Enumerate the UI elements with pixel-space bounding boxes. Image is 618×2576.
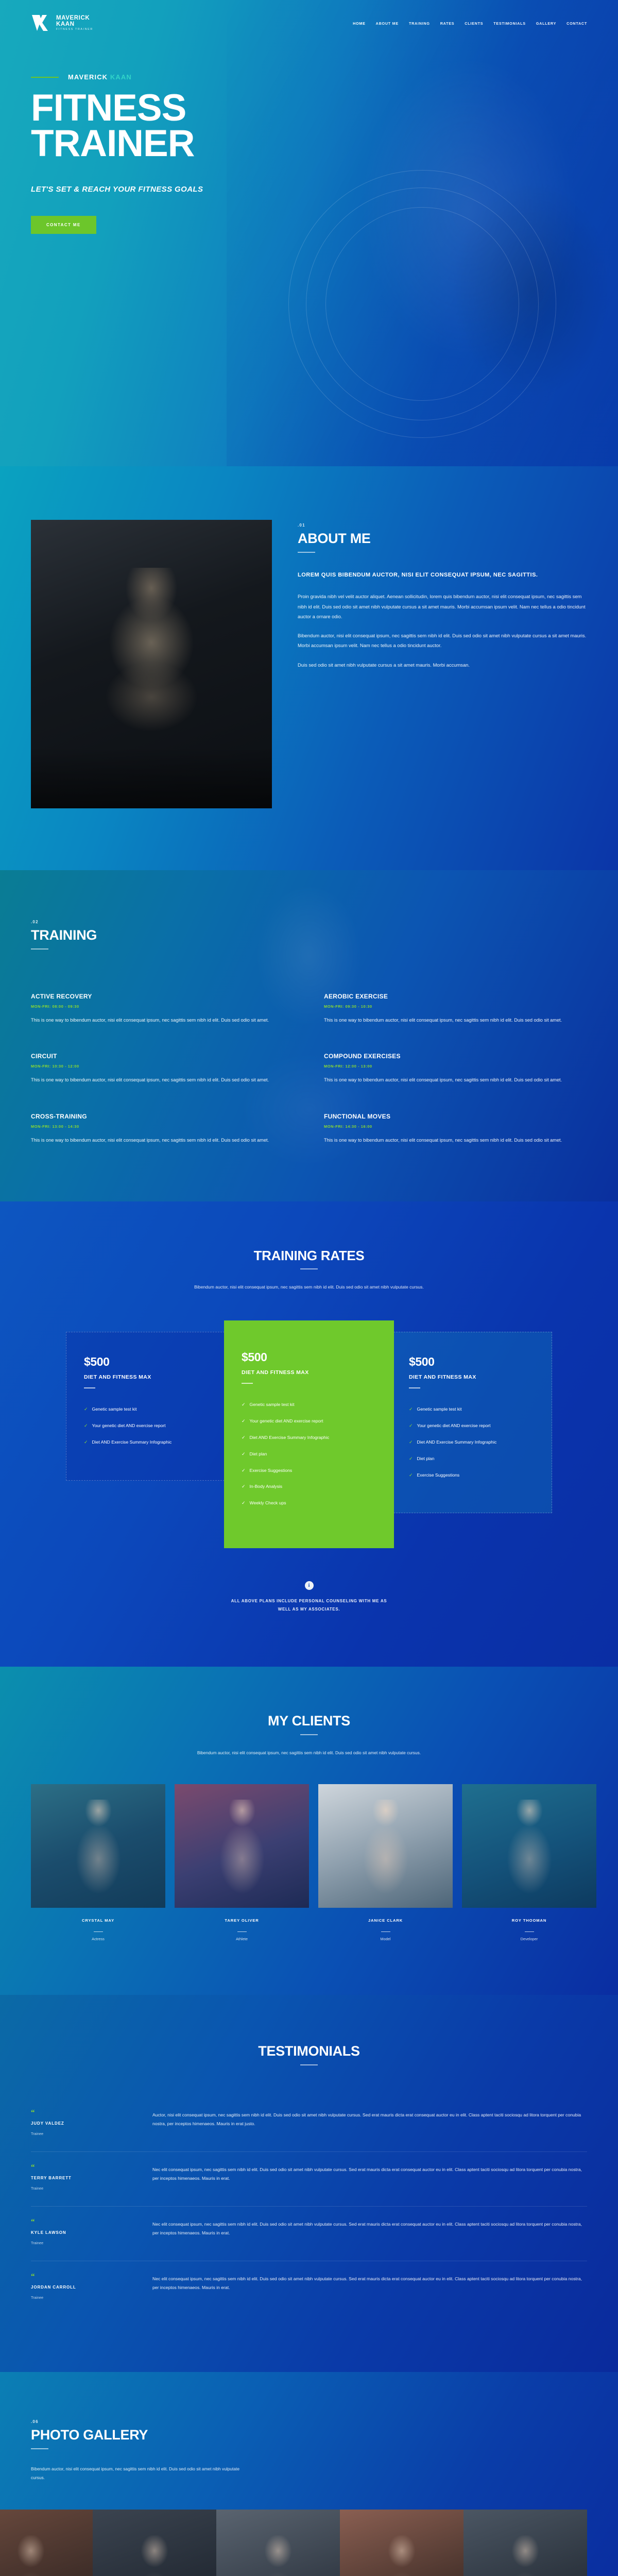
plan-feature: ✓Weekly Check ups [242, 1500, 376, 1506]
hero-eyebrow-first: MAVERICK [68, 73, 110, 81]
plan-feature-label: Your genetic diet AND exercise report [250, 1418, 323, 1425]
client-role: Actress [31, 1937, 165, 1941]
testimonials-title-rule [300, 2064, 318, 2065]
plan-name: DIET AND FITNESS MAX [84, 1374, 209, 1380]
about-copy: .01 ABOUT ME LOREM QUIS BIBENDUM AUCTOR,… [298, 520, 587, 679]
client-photo [318, 1784, 453, 1908]
hero-title-line1: FITNESS [31, 90, 587, 126]
quote-icon: “ [31, 2164, 139, 2171]
plan-feature-list: ✓Genetic sample test kit ✓Your genetic d… [84, 1406, 209, 1446]
pricing-plan-premium[interactable]: $500 DIET AND FITNESS MAX ✓Genetic sampl… [391, 1332, 552, 1513]
plan-feature: ✓Your genetic diet AND exercise report [409, 1422, 534, 1429]
plan-feature-label: Diet AND Exercise Summary Infographic [250, 1434, 330, 1441]
clients-section: MY CLIENTS Bibendum auctor, nisi elit co… [0, 1667, 618, 1995]
clients-title-rule [300, 1734, 318, 1735]
nav-item-contact[interactable]: CONTACT [566, 21, 587, 26]
clients-grid: CRYSTAL MAY Actress TAREY OLIVER Athlete… [31, 1784, 587, 1942]
training-item: FUNCTIONAL MOVES MON-FRI: 14:30 - 16:00 … [324, 1113, 587, 1145]
top-navigation-bar: MAVERICK KAAN FITNESS TRAINER HOME ABOUT… [31, 0, 587, 33]
gallery-subtitle: Bibendum auctor, nisi elit consequat ips… [31, 2465, 247, 2482]
about-paragraph-3: Duis sed odio sit amet nibh vulputate cu… [298, 660, 587, 670]
rates-header: TRAINING RATES Bibendum auctor, nisi eli… [31, 1249, 587, 1292]
gallery-section: .06 PHOTO GALLERY Bibendum auctor, nisi … [0, 2372, 618, 2576]
info-icon: i [305, 1581, 314, 1590]
training-title: TRAINING [31, 928, 587, 942]
client-role: Athlete [175, 1937, 309, 1941]
plan-price: $500 [84, 1355, 209, 1369]
rates-title-rule [300, 1268, 318, 1269]
plan-feature: ✓Diet AND Exercise Summary Infographic [242, 1434, 376, 1441]
plan-feature-label: Diet plan [250, 1451, 267, 1458]
plan-feature: ✓Diet AND Exercise Summary Infographic [84, 1439, 209, 1446]
about-photo-shade [31, 747, 272, 808]
training-item-name: CIRCUIT [31, 1053, 294, 1060]
plan-feature-label: Diet AND Exercise Summary Infographic [92, 1439, 172, 1446]
plan-feature-list: ✓Genetic sample test kit ✓Your genetic d… [409, 1406, 534, 1478]
rates-title: TRAINING RATES [31, 1249, 587, 1262]
check-icon: ✓ [242, 1401, 246, 1408]
check-icon: ✓ [409, 1455, 413, 1462]
testimonial-role: Trainee [31, 2295, 139, 2300]
plan-feature-label: Diet AND Exercise Summary Infographic [417, 1439, 497, 1446]
check-icon: ✓ [242, 1418, 246, 1424]
client-rule [381, 1931, 390, 1933]
testimonial-text: Auctor, nisi elit consequat ipsum, nec s… [152, 2110, 587, 2128]
training-title-rule [31, 948, 48, 950]
about-title: ABOUT ME [298, 532, 587, 546]
check-icon: ✓ [409, 1422, 413, 1429]
check-icon: ✓ [242, 1467, 246, 1473]
check-icon: ✓ [84, 1439, 88, 1445]
training-item: CIRCUIT MON-FRI: 10:30 - 12:00 This is o… [31, 1053, 294, 1084]
testimonials-header: TESTIMONIALS [31, 2044, 587, 2065]
vk-monogram-icon [31, 13, 51, 33]
training-item: COMPOUND EXERCISES MON-FRI: 12:00 - 13:0… [324, 1053, 587, 1084]
gallery-photo[interactable] [0, 2510, 93, 2576]
plan-rule [409, 1387, 420, 1388]
training-item-desc: This is one way to bibendum auctor, nisi… [31, 1075, 273, 1084]
about-paragraph-2: Bibendum auctor, nisi elit consequat ips… [298, 631, 587, 651]
plan-name: DIET AND FITNESS MAX [242, 1369, 376, 1376]
plan-feature: ✓Genetic sample test kit [84, 1406, 209, 1413]
testimonial-item: “ KYLE LAWSON Trainee Nec elit consequat… [31, 2207, 587, 2261]
client-rule [237, 1931, 247, 1933]
check-icon: ✓ [242, 1483, 246, 1489]
nav-item-about[interactable]: ABOUT ME [376, 21, 399, 26]
training-item-name: CROSS-TRAINING [31, 1113, 294, 1120]
plan-feature-label: Your genetic diet AND exercise report [417, 1422, 491, 1429]
rates-note-text: ALL ABOVE PLANS INCLUDE PERSONAL COUNSEL… [224, 1597, 394, 1613]
client-photo [175, 1784, 309, 1908]
nav-item-clients[interactable]: CLIENTS [465, 21, 483, 26]
testimonial-item: “ JORDAN CARROLL Trainee Nec elit conseq… [31, 2261, 587, 2315]
client-card[interactable]: ROY THOOMAN Developer [462, 1784, 596, 1942]
training-item: CROSS-TRAINING MON-FRI: 13:00 - 14:30 Th… [31, 1113, 294, 1145]
client-name: TAREY OLIVER [175, 1918, 309, 1923]
quote-icon: “ [31, 2219, 139, 2225]
nav-item-gallery[interactable]: GALLERY [536, 21, 556, 26]
gallery-title-rule [31, 2448, 48, 2449]
training-item-time: MON-FRI: 14:30 - 16:00 [324, 1124, 587, 1129]
hero-eyebrow-second: KAAN [110, 73, 132, 81]
about-section: .01 ABOUT ME LOREM QUIS BIBENDUM AUCTOR,… [0, 466, 618, 870]
about-photo [31, 520, 272, 808]
testimonial-role: Trainee [31, 2241, 139, 2245]
check-icon: ✓ [242, 1451, 246, 1457]
training-item-desc: This is one way to bibendum auctor, nisi… [324, 1015, 566, 1025]
rates-section: TRAINING RATES Bibendum auctor, nisi eli… [0, 1201, 618, 1667]
plan-feature-label: Your genetic diet AND exercise report [92, 1422, 166, 1429]
check-icon: ✓ [409, 1472, 413, 1478]
quote-icon: “ [31, 2274, 139, 2280]
testimonial-name: KYLE LAWSON [31, 2230, 139, 2235]
plan-feature: ✓Genetic sample test kit [242, 1401, 376, 1408]
gallery-section-number: .06 [31, 2419, 587, 2424]
gallery-grid [0, 2510, 587, 2576]
about-title-rule [298, 552, 315, 553]
training-item-name: FUNCTIONAL MOVES [324, 1113, 587, 1120]
plan-feature-list: ✓Genetic sample test kit ✓Your genetic d… [242, 1401, 376, 1506]
pricing-plan-basic[interactable]: $500 DIET AND FITNESS MAX ✓Genetic sampl… [66, 1332, 227, 1481]
nav-item-training[interactable]: TRAINING [409, 21, 430, 26]
plan-feature: ✓Exercise Suggestions [242, 1467, 376, 1474]
client-photo [462, 1784, 596, 1908]
clients-title: MY CLIENTS [31, 1714, 587, 1728]
plan-feature-label: Diet plan [417, 1455, 435, 1462]
client-card[interactable]: CRYSTAL MAY Actress [31, 1784, 165, 1942]
logo-tagline: FITNESS TRAINER [56, 28, 93, 31]
about-photo-figure [90, 568, 213, 738]
training-item-name: AEROBIC EXERCISE [324, 993, 587, 1000]
eyebrow-rule [31, 77, 59, 78]
testimonial-item: “ TERRY BARRETT Trainee Nec elit consequ… [31, 2152, 587, 2207]
gallery-title: PHOTO GALLERY [31, 2428, 587, 2442]
testimonial-text: Nec elit consequat ipsum, nec sagittis s… [152, 2219, 587, 2238]
testimonial-item: “ JUDY VALDEZ Trainee Auctor, nisi elit … [31, 2097, 587, 2152]
client-rule [525, 1931, 534, 1933]
hero-section: MAVERICK KAAN FITNESS TRAINER HOME ABOUT… [0, 0, 618, 466]
client-rule [94, 1931, 103, 1933]
plan-feature-label: Exercise Suggestions [250, 1467, 293, 1474]
testimonials-title: TESTIMONIALS [31, 2044, 587, 2058]
clients-subtitle: Bibendum auctor, nisi elit consequat ips… [191, 1749, 427, 1757]
main-nav: HOME ABOUT ME TRAINING RATES CLIENTS TES… [353, 21, 587, 26]
nav-item-rates[interactable]: RATES [440, 21, 455, 26]
plan-feature-label: Genetic sample test kit [417, 1406, 462, 1413]
hero-subtitle: LET'S SET & REACH YOUR FITNESS GOALS [31, 183, 247, 195]
training-section: .02 TRAINING ACTIVE RECOVERY MON-FRI: 08… [0, 870, 618, 1201]
training-item: AEROBIC EXERCISE MON-FRI: 09:30 - 10:30 … [324, 993, 587, 1025]
logo-name-line2: KAAN [56, 22, 93, 28]
plan-price: $500 [409, 1355, 534, 1369]
training-item-time: MON-FRI: 10:30 - 12:00 [31, 1064, 294, 1069]
pricing-plan-featured[interactable]: $500 DIET AND FITNESS MAX ✓Genetic sampl… [224, 1320, 394, 1548]
testimonial-text: Nec elit consequat ipsum, nec sagittis s… [152, 2164, 587, 2183]
testimonial-text: Nec elit consequat ipsum, nec sagittis s… [152, 2274, 587, 2292]
check-icon: ✓ [84, 1406, 88, 1412]
testimonial-name: TERRY BARRETT [31, 2176, 139, 2180]
check-icon: ✓ [84, 1422, 88, 1429]
gallery-photo[interactable] [93, 2510, 216, 2576]
plan-feature: ✓In-Body Analysis [242, 1483, 376, 1490]
logo-name-line1: MAVERICK [56, 15, 93, 22]
nav-item-testimonials[interactable]: TESTIMONIALS [493, 21, 526, 26]
client-role: Model [318, 1937, 453, 1941]
training-item-time: MON-FRI: 13:00 - 14:30 [31, 1124, 294, 1129]
hero-title-line2: TRAINER [31, 126, 587, 161]
quote-icon: “ [31, 2110, 139, 2116]
plan-feature-label: Genetic sample test kit [250, 1401, 295, 1408]
client-card[interactable]: JANICE CLARK Model [318, 1784, 453, 1942]
plan-feature-label: In-Body Analysis [250, 1483, 283, 1490]
check-icon: ✓ [242, 1500, 246, 1506]
gallery-photo[interactable] [216, 2510, 340, 2576]
training-item-desc: This is one way to bibendum auctor, nisi… [324, 1136, 566, 1145]
about-lead: LOREM QUIS BIBENDUM AUCTOR, NISI ELIT CO… [298, 570, 587, 580]
testimonials-section: TESTIMONIALS “ JUDY VALDEZ Trainee Aucto… [0, 1995, 618, 2372]
plan-feature-label: Genetic sample test kit [92, 1406, 137, 1413]
plan-feature: ✓Diet plan [409, 1455, 534, 1462]
testimonial-name: JORDAN CARROLL [31, 2285, 139, 2290]
training-grid: ACTIVE RECOVERY MON-FRI: 08:00 - 09:30 T… [31, 993, 587, 1145]
plan-feature: ✓Your genetic diet AND exercise report [242, 1418, 376, 1425]
plan-feature: ✓Diet AND Exercise Summary Infographic [409, 1439, 534, 1446]
hero-title: FITNESS TRAINER [31, 90, 587, 162]
pricing-plans: $500 DIET AND FITNESS MAX ✓Genetic sampl… [31, 1320, 587, 1548]
about-paragraph-1: Proin gravida nibh vel velit auctor aliq… [298, 591, 587, 621]
brand-logo[interactable]: MAVERICK KAAN FITNESS TRAINER [31, 13, 93, 33]
training-item-name: COMPOUND EXERCISES [324, 1053, 587, 1060]
plan-feature-label: Weekly Check ups [250, 1500, 286, 1506]
plan-feature-label: Exercise Suggestions [417, 1472, 460, 1479]
training-item-name: ACTIVE RECOVERY [31, 993, 294, 1000]
training-item-desc: This is one way to bibendum auctor, nisi… [324, 1075, 566, 1084]
testimonial-role: Trainee [31, 2186, 139, 2191]
hero-eyebrow: MAVERICK KAAN [31, 73, 587, 81]
plan-rule [84, 1387, 95, 1388]
plan-feature: ✓Genetic sample test kit [409, 1406, 534, 1413]
training-item: ACTIVE RECOVERY MON-FRI: 08:00 - 09:30 T… [31, 993, 294, 1025]
gallery-photo[interactable] [463, 2510, 587, 2576]
plan-feature: ✓Your genetic diet AND exercise report [84, 1422, 209, 1429]
about-section-number: .01 [298, 523, 587, 528]
plan-rule [242, 1383, 253, 1384]
client-name: CRYSTAL MAY [31, 1918, 165, 1923]
client-name: JANICE CLARK [318, 1918, 453, 1923]
training-item-desc: This is one way to bibendum auctor, nisi… [31, 1015, 273, 1025]
client-card[interactable]: TAREY OLIVER Athlete [175, 1784, 309, 1942]
plan-price: $500 [242, 1350, 376, 1364]
training-item-time: MON-FRI: 08:00 - 09:30 [31, 1004, 294, 1009]
plan-feature: ✓Diet plan [242, 1451, 376, 1458]
hero-contact-button[interactable]: CONTACT ME [31, 216, 96, 234]
testimonial-role: Trainee [31, 2131, 139, 2136]
client-name: ROY THOOMAN [462, 1918, 596, 1923]
client-role: Developer [462, 1937, 596, 1941]
client-photo [31, 1784, 165, 1908]
testimonial-name: JUDY VALDEZ [31, 2121, 139, 2126]
clients-header: MY CLIENTS Bibendum auctor, nisi elit co… [31, 1714, 587, 1757]
hero-content: MAVERICK KAAN FITNESS TRAINER LET'S SET … [31, 33, 587, 234]
testimonials-list: “ JUDY VALDEZ Trainee Auctor, nisi elit … [31, 2097, 587, 2315]
rates-note: i ALL ABOVE PLANS INCLUDE PERSONAL COUNS… [31, 1580, 587, 1613]
gallery-photo[interactable] [340, 2510, 463, 2576]
check-icon: ✓ [409, 1406, 413, 1412]
check-icon: ✓ [409, 1439, 413, 1445]
training-item-time: MON-FRI: 09:30 - 10:30 [324, 1004, 587, 1009]
training-item-time: MON-FRI: 12:00 - 13:00 [324, 1064, 587, 1069]
page-root: MAVERICK KAAN FITNESS TRAINER HOME ABOUT… [0, 0, 618, 2576]
plan-name: DIET AND FITNESS MAX [409, 1374, 534, 1380]
nav-item-home[interactable]: HOME [353, 21, 366, 26]
training-item-desc: This is one way to bibendum auctor, nisi… [31, 1136, 273, 1145]
training-section-number: .02 [31, 920, 587, 924]
check-icon: ✓ [242, 1434, 246, 1440]
rates-subtitle: Bibendum auctor, nisi elit consequat ips… [175, 1283, 443, 1292]
plan-feature: ✓Exercise Suggestions [409, 1472, 534, 1479]
